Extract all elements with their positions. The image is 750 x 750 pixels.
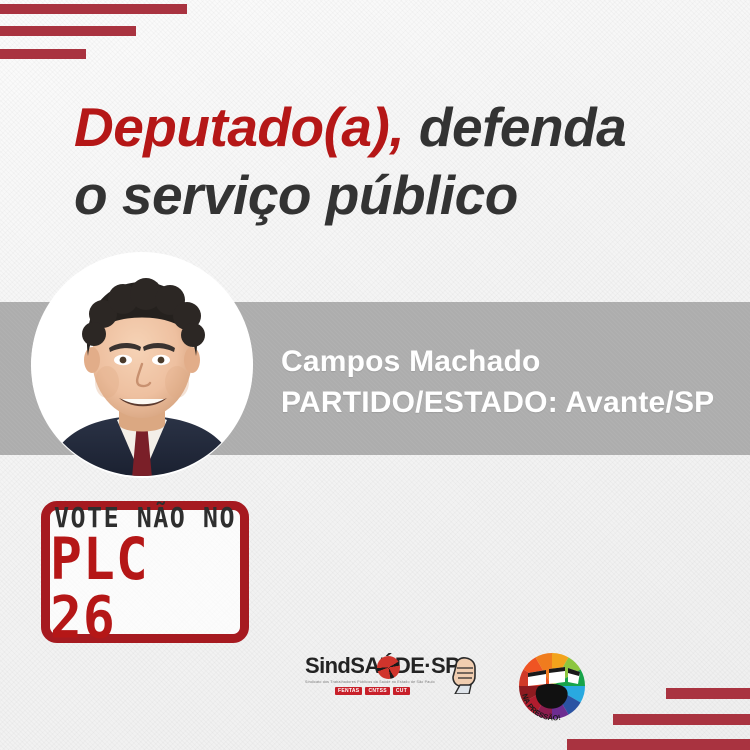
decor-bar-top-1: [0, 4, 187, 14]
decor-bar-bottom-2: [613, 714, 750, 725]
headline-red-text: Deputado(a),: [74, 96, 404, 158]
affiliate-badge: CUT: [393, 687, 410, 695]
sindsaude-logo: SindSAÚDE·SP Sindicato dos Trabalhadores…: [305, 655, 475, 703]
raised-fist-icon: [447, 654, 481, 694]
candidate-info: Campos Machado PARTIDO/ESTADO: Avante/SP: [281, 341, 741, 423]
decor-bar-bottom-3: [567, 739, 750, 750]
poster-headline: Deputado(a), defenda o serviço público: [74, 92, 734, 231]
decor-bar-top-3: [0, 49, 86, 59]
headline-dark-text: defenda: [419, 96, 626, 158]
decor-bar-top-2: [0, 26, 136, 36]
candidate-name: Campos Machado: [281, 345, 541, 378]
headline-line-two: o serviço público: [74, 160, 734, 232]
affiliate-badge: CNTSS: [365, 687, 389, 695]
sindsaude-dot-icon: [377, 656, 400, 679]
affiliate-badge: FENTAS: [335, 687, 362, 695]
candidate-party-state: PARTIDO/ESTADO: Avante/SP: [281, 382, 741, 423]
na-pressao-logo: NA PRESSÃO!: [509, 643, 595, 729]
vote-no-box: VOTE NÃO NO PLC 26: [41, 501, 249, 643]
vote-box-bill-number: PLC 26: [50, 530, 240, 647]
candidate-avatar: [31, 252, 253, 478]
campaign-poster: Deputado(a), defenda o serviço público: [0, 0, 750, 750]
decor-bar-bottom-1: [666, 688, 750, 699]
